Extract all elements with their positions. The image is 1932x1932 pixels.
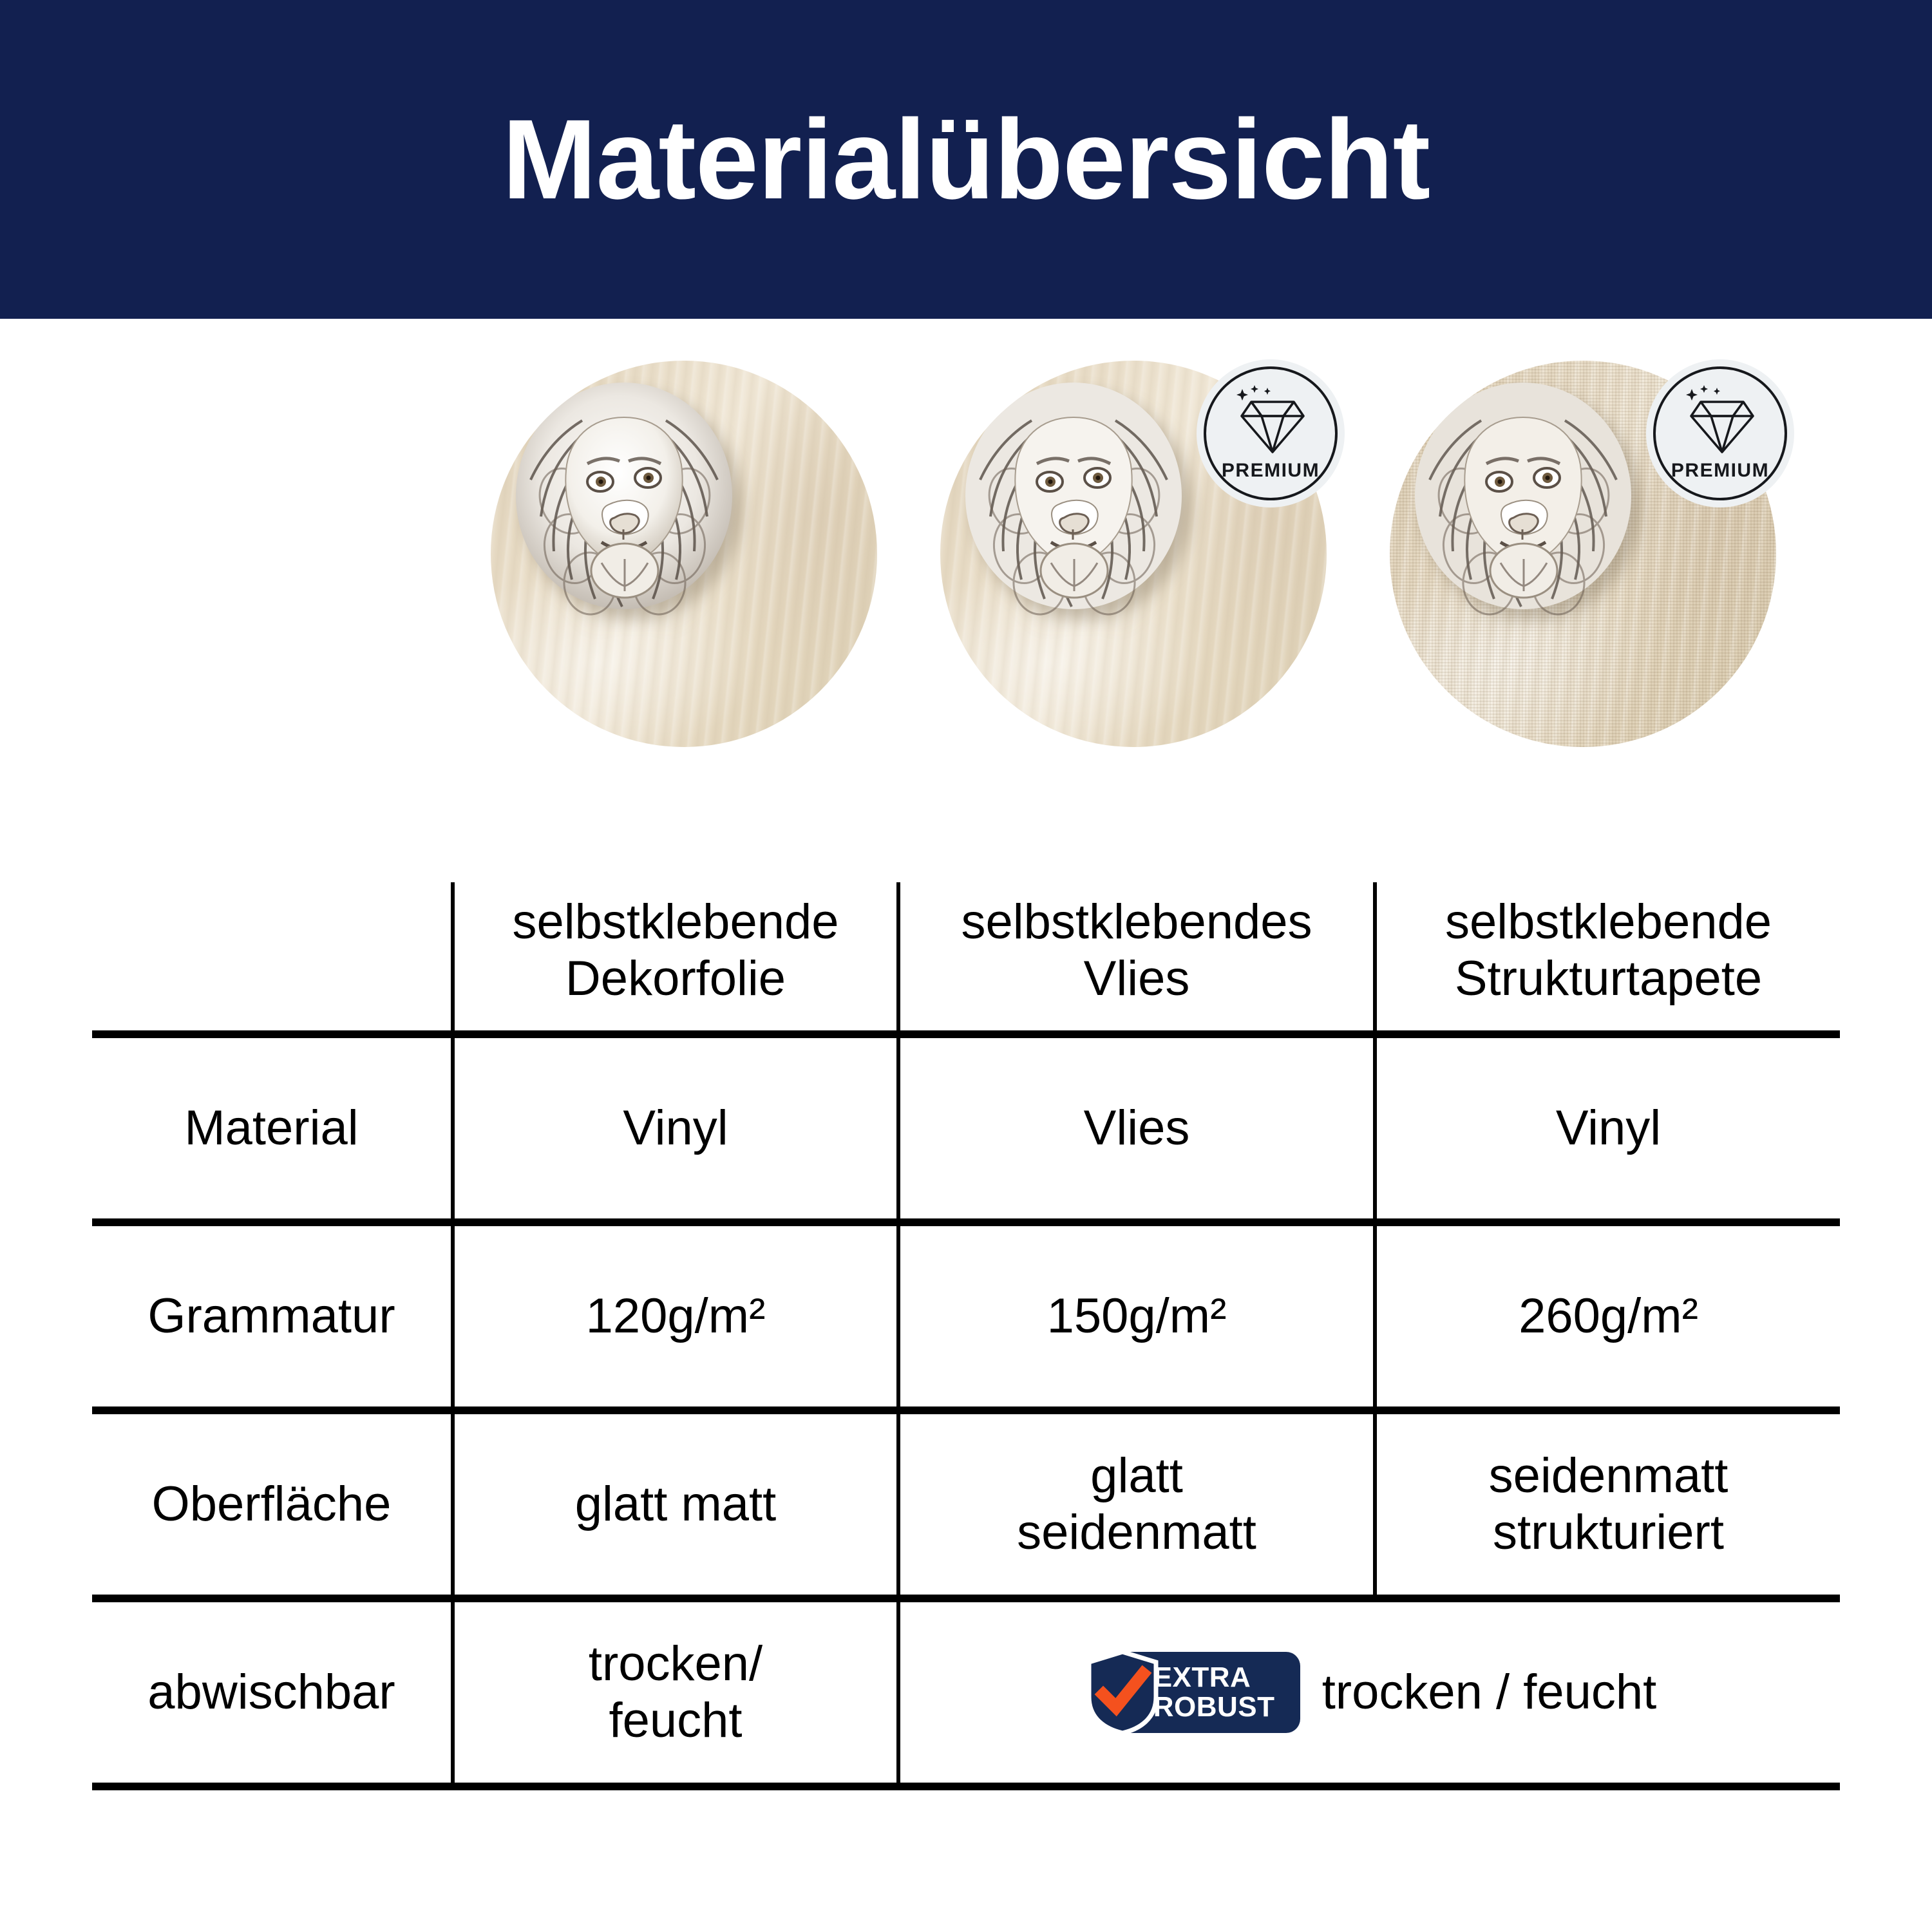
value-line1: glatt bbox=[909, 1448, 1364, 1504]
material-swatch-image bbox=[491, 361, 877, 747]
premium-badge-label: PREMIUM bbox=[1671, 460, 1769, 482]
table-row-grammatur: Grammatur 120g/m² 150g/m² 260g/m² bbox=[92, 1222, 1840, 1410]
table-row-material: Material Vinyl Vlies Vinyl bbox=[92, 1034, 1840, 1222]
shield-check-icon bbox=[1084, 1649, 1161, 1736]
value-line2: feucht bbox=[464, 1692, 887, 1749]
row-label-material: Material bbox=[92, 1034, 453, 1222]
cell-grammatur-dekorfolie: 120g/m² bbox=[453, 1222, 898, 1410]
extra-robust-badge: EXTRA ROBUST bbox=[1084, 1648, 1300, 1737]
cell-grammatur-vlies: 150g/m² bbox=[898, 1222, 1375, 1410]
value-line1: seidenmatt bbox=[1386, 1448, 1831, 1504]
header-cell-dekorfolie: selbstklebende Dekorfolie bbox=[453, 882, 898, 1034]
lion-head-relief-icon bbox=[954, 367, 1193, 618]
value-line1: trocken/ bbox=[464, 1636, 887, 1692]
cell-abwischbar-merged: EXTRA ROBUST trocken / feucht bbox=[898, 1598, 1840, 1786]
header-line2: Vlies bbox=[909, 951, 1364, 1007]
header-cell-empty bbox=[92, 882, 453, 1034]
premium-badge: PREMIUM bbox=[1646, 359, 1794, 507]
cell-grammatur-strukturtapete: 260g/m² bbox=[1375, 1222, 1840, 1410]
diamond-icon bbox=[1681, 385, 1759, 455]
cell-abwischbar-dekorfolie: trocken/ feucht bbox=[453, 1598, 898, 1786]
cell-oberflaeche-strukturtapete: seidenmatt strukturiert bbox=[1375, 1410, 1840, 1598]
value-line2: strukturiert bbox=[1386, 1504, 1831, 1561]
cell-oberflaeche-dekorfolie: glatt matt bbox=[453, 1410, 898, 1598]
page-header-band: Materialübersicht bbox=[0, 0, 1932, 319]
table-header-row: selbstklebende Dekorfolie selbstklebende… bbox=[92, 882, 1840, 1034]
header-cell-strukturtapete: selbstklebende Strukturtapete bbox=[1375, 882, 1840, 1034]
header-line1: selbstklebende bbox=[464, 894, 887, 951]
cell-abwischbar-value: trocken / feucht bbox=[1322, 1664, 1657, 1721]
header-cell-vlies: selbstklebendes Vlies bbox=[898, 882, 1375, 1034]
product-preview-vlies[interactable]: PREMIUM bbox=[940, 361, 1327, 747]
page-title: Materialübersicht bbox=[502, 103, 1430, 216]
cell-material-strukturtapete: Vinyl bbox=[1375, 1034, 1840, 1222]
badge-text: EXTRA ROBUST bbox=[1153, 1654, 1296, 1730]
value-line2: seidenmatt bbox=[909, 1504, 1364, 1561]
premium-badge-label: PREMIUM bbox=[1222, 460, 1320, 482]
header-line2: Strukturtapete bbox=[1386, 951, 1831, 1007]
product-preview-strukturtapete[interactable]: PREMIUM bbox=[1390, 361, 1776, 747]
diamond-icon bbox=[1232, 385, 1309, 455]
premium-badge: PREMIUM bbox=[1197, 359, 1345, 507]
header-line1: selbstklebende bbox=[1386, 894, 1831, 951]
table-row-abwischbar: abwischbar trocken/ feucht bbox=[92, 1598, 1840, 1786]
cell-oberflaeche-vlies: glatt seidenmatt bbox=[898, 1410, 1375, 1598]
product-preview-dekorfolie[interactable] bbox=[491, 361, 877, 747]
header-line2: Dekorfolie bbox=[464, 951, 887, 1007]
material-overview-page: Materialübersicht bbox=[0, 0, 1932, 1932]
badge-line1: EXTRA bbox=[1153, 1663, 1251, 1692]
header-line1: selbstklebendes bbox=[909, 894, 1364, 951]
lion-head-relief-icon bbox=[505, 367, 743, 618]
product-preview-row: PREMIUM bbox=[0, 361, 1932, 760]
cell-material-dekorfolie: Vinyl bbox=[453, 1034, 898, 1222]
material-spec-table: selbstklebende Dekorfolie selbstklebende… bbox=[92, 882, 1840, 1790]
badge-line2: ROBUST bbox=[1153, 1692, 1275, 1722]
row-label-grammatur: Grammatur bbox=[92, 1222, 453, 1410]
row-label-oberflaeche: Oberfläche bbox=[92, 1410, 453, 1598]
row-label-abwischbar: abwischbar bbox=[92, 1598, 453, 1786]
table-row-oberflaeche: Oberfläche glatt matt glatt seidenmatt s… bbox=[92, 1410, 1840, 1598]
lion-head-relief-icon bbox=[1404, 367, 1642, 618]
cell-material-vlies: Vlies bbox=[898, 1034, 1375, 1222]
